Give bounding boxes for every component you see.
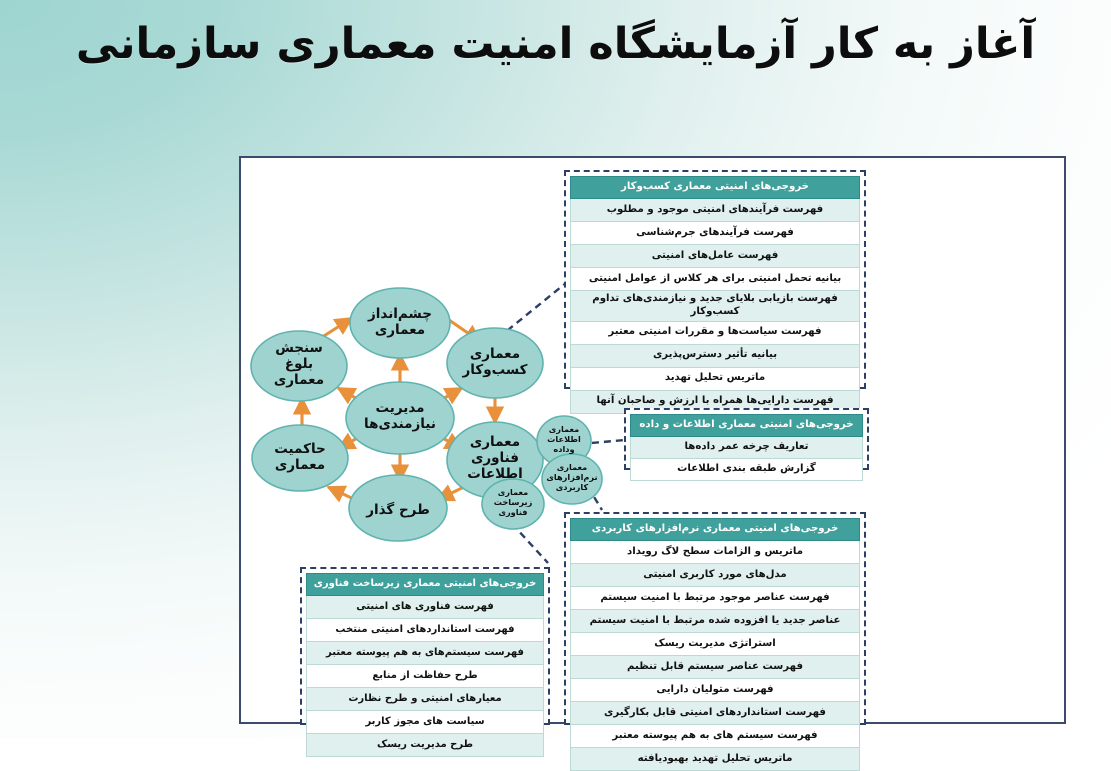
table-row: سیاست های مجوز کاربر — [307, 711, 544, 734]
application-architecture-outputs-table: خروجی‌های امنیتی معماری نرم‌افزارهای کار… — [564, 512, 866, 725]
table-row: گزارش طبقه بندی اطلاعات — [631, 459, 863, 481]
table-row: فهرست سیستم‌های به هم پیوسته معتبر — [307, 642, 544, 665]
table-row: فهرست متولیان دارایی — [571, 679, 860, 702]
table-row: بیانیه تأثیر دسترس‌پذیری — [571, 344, 860, 367]
table-row: استراتژی مدیریت ریسک — [571, 633, 860, 656]
table-row: عناصر جدید یا افزوده شده مرتبط با امنیت … — [571, 610, 860, 633]
table-row: فهرست عناصر موجود مرتبط با امنیت سیستم — [571, 587, 860, 610]
table-row: معیارهای امنیتی و طرح نظارت — [307, 688, 544, 711]
table-row: فهرست بازیابی بلایای جدید و نیازمندی‌های… — [571, 291, 860, 322]
table-row: ماتریس تحلیل تهدید بهبودیافته — [571, 748, 860, 771]
table-row: تعاریف چرخه عمر داده‌ها — [631, 437, 863, 459]
table-header-row: خروجی‌های امنیتی معماری اطلاعات و داده — [631, 415, 863, 437]
table-row: فهرست فرآیندهای امنیتی موجود و مطلوب — [571, 199, 860, 222]
table-row: ماتریس و الزامات سطح لاگ رویداد — [571, 541, 860, 564]
technology-table-body: خروجی‌های امنیتی معماری زیرساخت فناوری ف… — [307, 574, 544, 757]
table-row: فهرست فرآیندهای جرم‌شناسی — [571, 222, 860, 245]
table-header-cell: خروجی‌های امنیتی معماری اطلاعات و داده — [631, 415, 863, 437]
table-row: فهرست عناصر سیستم قابل تنظیم — [571, 656, 860, 679]
table-header-cell: خروجی‌های امنیتی معماری نرم‌افزارهای کار… — [571, 519, 860, 541]
table-row: فهرست سیستم های به هم پیوسته معتبر — [571, 725, 860, 748]
table-row: ماتریس تحلیل تهدید — [571, 367, 860, 390]
table-row: فهرست استانداردهای امنیتی منتخب — [307, 619, 544, 642]
table-row: فهرست استانداردهای امنیتی قابل بکارگیری — [571, 702, 860, 725]
table-row: فهرست سیاست‌ها و مقررات امنیتی معتبر — [571, 321, 860, 344]
table-row: فهرست عامل‌های امنیتی — [571, 245, 860, 268]
table-row: بیانیه تحمل امنیتی برای هر کلاس از عوامل… — [571, 268, 860, 291]
table-header-row: خروجی‌های امنیتی معماری کسب‌وکار — [571, 177, 860, 199]
business-table-body: خروجی‌های امنیتی معماری کسب‌وکار فهرست ف… — [571, 177, 860, 414]
business-architecture-outputs-table: خروجی‌های امنیتی معماری کسب‌وکار فهرست ف… — [564, 170, 866, 389]
table-row: طرح مدیریت ریسک — [307, 734, 544, 757]
data-table-body: خروجی‌های امنیتی معماری اطلاعات و داده ت… — [631, 415, 863, 481]
table-header-cell: خروجی‌های امنیتی معماری زیرساخت فناوری — [307, 574, 544, 596]
table-header-row: خروجی‌های امنیتی معماری زیرساخت فناوری — [307, 574, 544, 596]
page-title: آغاز به کار آزمایشگاه امنیت معماری سازما… — [0, 18, 1111, 70]
table-row: طرح حفاظت از منابع — [307, 665, 544, 688]
table-header-row: خروجی‌های امنیتی معماری نرم‌افزارهای کار… — [571, 519, 860, 541]
table-row: مدل‌های مورد کاربری امنیتی — [571, 564, 860, 587]
data-architecture-outputs-table: خروجی‌های امنیتی معماری اطلاعات و داده ت… — [624, 408, 869, 470]
table-header-cell: خروجی‌های امنیتی معماری کسب‌وکار — [571, 177, 860, 199]
technology-architecture-outputs-table: خروجی‌های امنیتی معماری زیرساخت فناوری ف… — [300, 567, 550, 725]
table-row: فهرست فناوری های امنیتی — [307, 596, 544, 619]
application-table-body: خروجی‌های امنیتی معماری نرم‌افزارهای کار… — [571, 519, 860, 771]
